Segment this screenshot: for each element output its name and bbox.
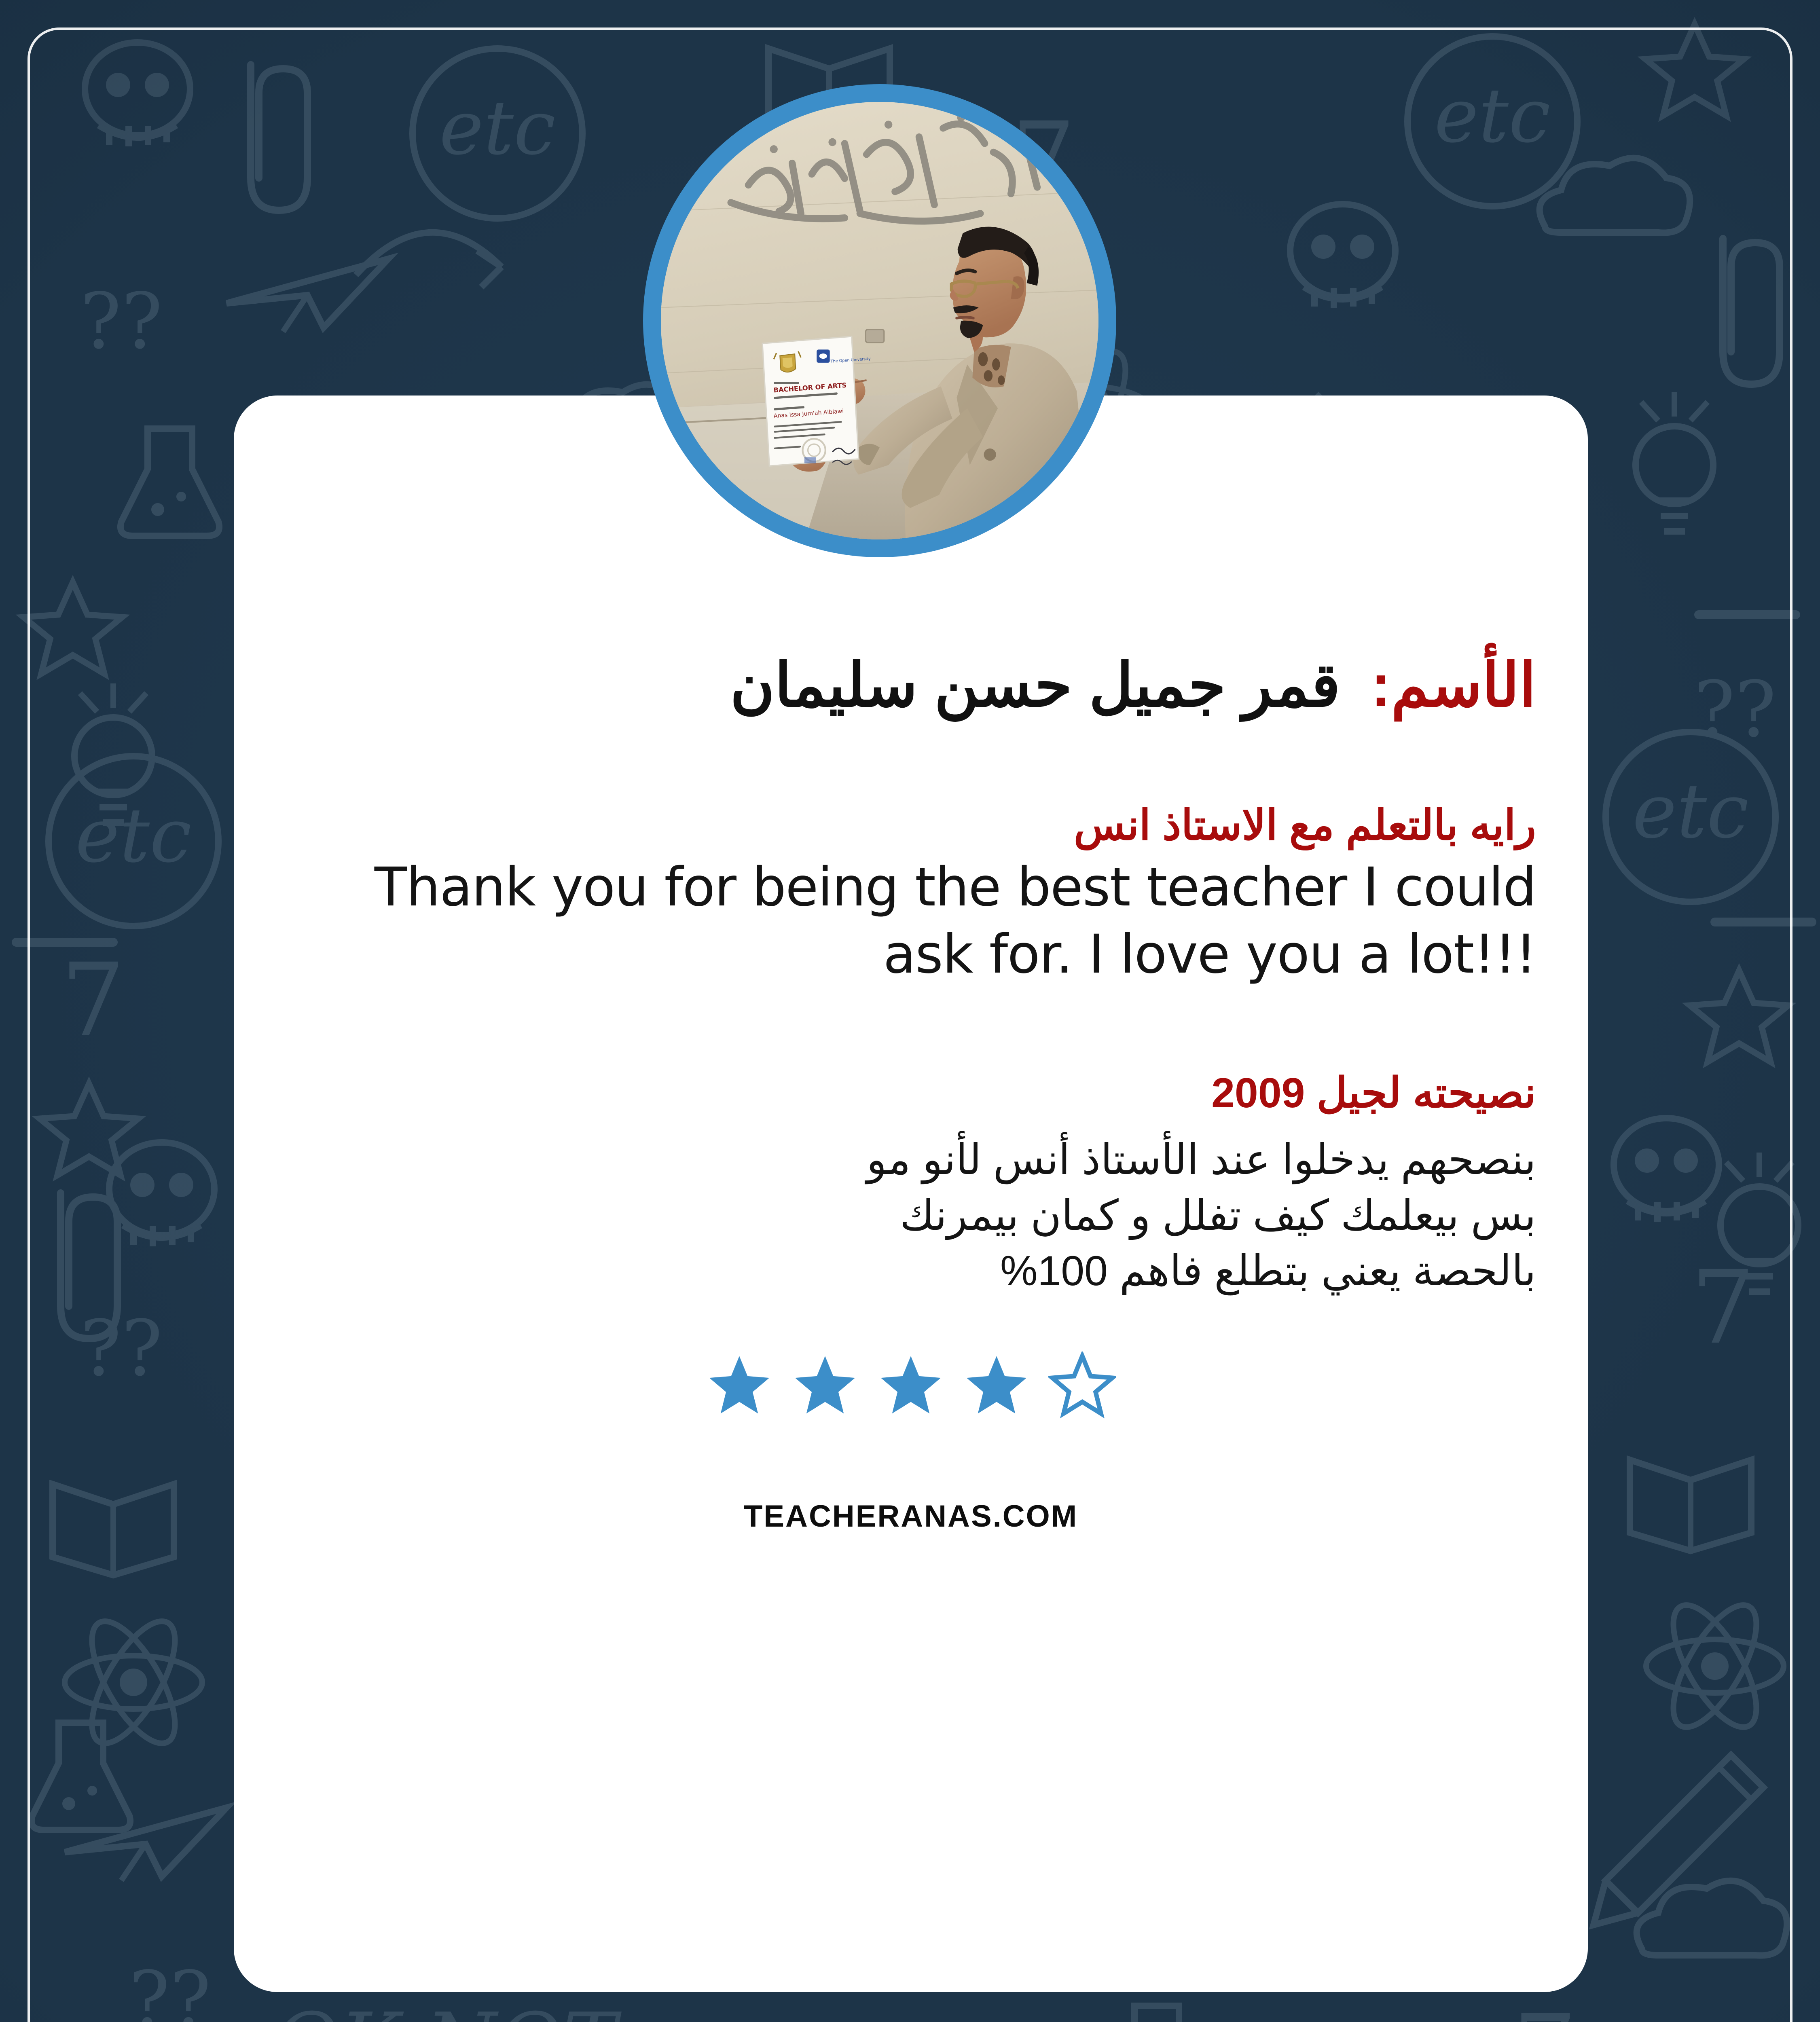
star-filled-icon[interactable] (963, 1352, 1031, 1419)
spacer-after-name (286, 724, 1536, 800)
advice-body: بنصحهم يدخلوا عند الأستاذ أنس لأنو مو بس… (286, 1132, 1536, 1299)
student-name-value: قمر جميل حسن سليمان (730, 651, 1340, 719)
opinion-heading: رايه بالتعلم مع الاستاذ انس (286, 800, 1536, 851)
star-outline-icon[interactable] (1048, 1352, 1116, 1419)
footer-website[interactable]: TEACHERANAS.COM (286, 1499, 1536, 1534)
rating-stars (286, 1352, 1536, 1419)
avatar: The Open University BACHELOR OF ARTS Ana… (661, 102, 1098, 539)
star-filled-icon[interactable] (791, 1352, 859, 1419)
poster-root: etc (0, 0, 1820, 2022)
testimonial-card-content: الأسم: قمر جميل حسن سليمان رايه بالتعلم … (234, 646, 1588, 1534)
testimonial-card: الأسم: قمر جميل حسن سليمان رايه بالتعلم … (234, 396, 1588, 1992)
star-filled-icon[interactable] (877, 1352, 945, 1419)
advice-line: بالحصة يعني بتطلع فاهم 100% (286, 1244, 1536, 1299)
spacer-after-opinion (286, 988, 1536, 1068)
advice-line: بنصحهم يدخلوا عند الأستاذ أنس لأنو مو (286, 1132, 1536, 1188)
avatar-ring: The Open University BACHELOR OF ARTS Ana… (643, 84, 1116, 557)
student-name-row: الأسم: قمر جميل حسن سليمان (286, 646, 1536, 724)
student-name-label: الأسم: (1371, 651, 1536, 719)
opinion-english-quote: Thank you for being the best teacher I c… (286, 854, 1536, 988)
advice-heading: نصيحته لجيل 2009 (286, 1068, 1536, 1119)
advice-line: بس بيعلمك كيف تفلل و كمان بيمرنك (286, 1188, 1536, 1244)
star-filled-icon[interactable] (705, 1352, 773, 1419)
